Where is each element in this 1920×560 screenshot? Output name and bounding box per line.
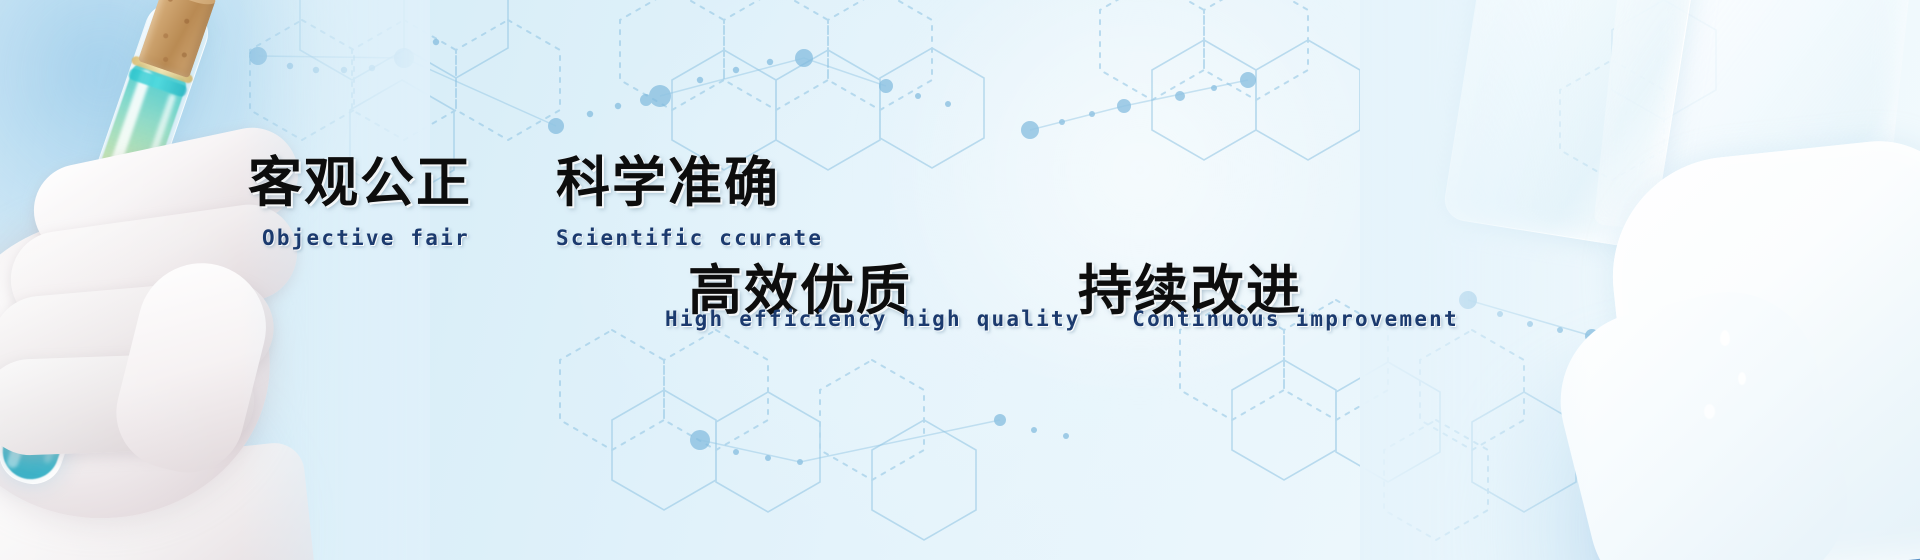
slogan-2-chinese: 科学准确: [556, 151, 780, 214]
slogan-scientific-accurate: 科学准确 Scientific ccurate: [556, 138, 823, 250]
lab-banner: 客观公正 Objective fair 科学准确 Scientific ccur…: [0, 0, 1920, 560]
slogan-objective-fair: 客观公正 Objective fair: [248, 138, 472, 250]
slogan-3-english: High efficiency high quality: [665, 307, 1081, 331]
slogan-1-chinese: 客观公正: [248, 151, 472, 214]
slogan-4-english: Continuous improvement: [1132, 307, 1459, 331]
slogan-row2-english: High efficiency high quality Continuous …: [665, 307, 1459, 331]
slogan-1-english: Objective fair: [248, 226, 472, 250]
slogan-group: 客观公正 Objective fair 科学准确 Scientific ccur…: [0, 0, 1920, 560]
